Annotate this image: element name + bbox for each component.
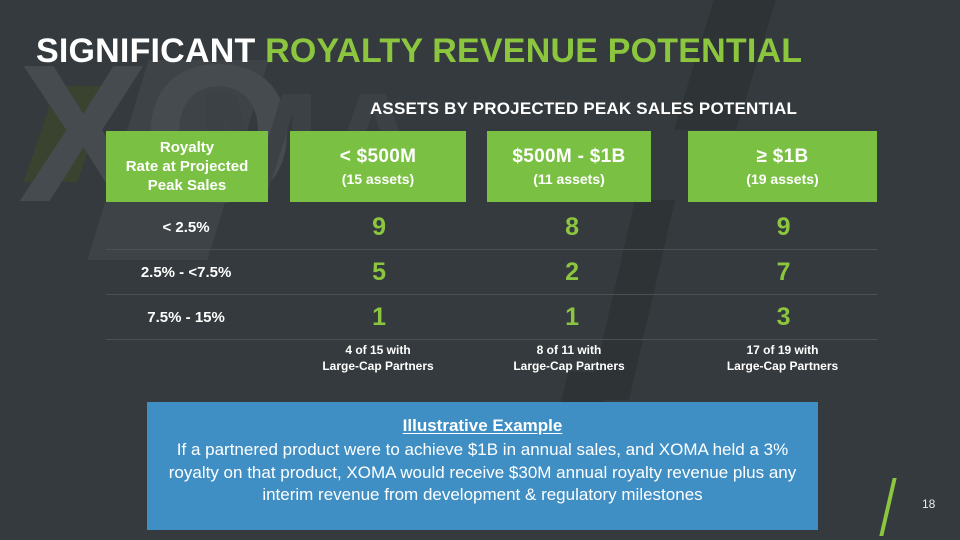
table-row: 2.5% - <7.5% 5 2 7 — [106, 250, 877, 295]
row-header-line-3: Peak Sales — [148, 176, 226, 195]
row-header-line-2: Rate at Projected — [126, 157, 249, 176]
table-row-label: < 2.5% — [106, 219, 266, 236]
column-header-subtitle: (15 assets) — [342, 171, 414, 187]
table-cell: 3 — [690, 303, 877, 332]
footnote-line-1: 4 of 15 with — [290, 342, 466, 358]
table-row: 7.5% - 15% 1 1 3 — [106, 295, 877, 340]
column-header-title: ≥ $1B — [756, 146, 808, 168]
column-header-title: < $500M — [340, 146, 417, 168]
footnote-500m-1b: 8 of 11 with Large-Cap Partners — [487, 342, 651, 374]
illustrative-example-heading: Illustrative Example — [163, 416, 802, 436]
row-header-line-1: Royalty — [160, 138, 214, 157]
page-title-main: ROYALTY REVENUE POTENTIAL — [255, 32, 802, 70]
page-title-emphasis: SIGNIFICANT — [36, 32, 255, 70]
green-corner-slash-icon — [879, 478, 896, 536]
table-row-label: 2.5% - <7.5% — [106, 264, 266, 281]
illustrative-example-body: If a partnered product were to achieve $… — [163, 439, 802, 507]
footnote-line-2: Large-Cap Partners — [290, 358, 466, 374]
column-header-subtitle: (11 assets) — [533, 171, 605, 187]
footnote-line-1: 17 of 19 with — [688, 342, 877, 358]
page-title: SIGNIFICANT ROYALTY REVENUE POTENTIAL — [36, 32, 802, 71]
slide-canvas: XO MA SIGNIFICANT ROYALTY REVENUE POTENT… — [0, 0, 960, 540]
footnote-under-500m: 4 of 15 with Large-Cap Partners — [290, 342, 466, 374]
page-number: 18 — [922, 497, 935, 511]
table-cell: 7 — [690, 258, 877, 287]
table-cell: 9 — [690, 213, 877, 242]
footnote-over-1b: 17 of 19 with Large-Cap Partners — [688, 342, 877, 374]
royalty-rate-table: < 2.5% 9 8 9 2.5% - <7.5% 5 2 7 7.5% - 1… — [106, 205, 877, 340]
table-row: < 2.5% 9 8 9 — [106, 205, 877, 250]
footnote-line-1: 8 of 11 with — [487, 342, 651, 358]
table-cell: 5 — [288, 258, 470, 287]
column-header-over-1b: ≥ $1B (19 assets) — [688, 131, 877, 202]
table-cell: 9 — [288, 213, 470, 242]
footnote-line-2: Large-Cap Partners — [487, 358, 651, 374]
green-wedge-shape — [23, 86, 110, 182]
illustrative-example-callout: Illustrative Example If a partnered prod… — [147, 402, 818, 530]
table-row-header-block: Royalty Rate at Projected Peak Sales — [106, 131, 268, 202]
column-header-subtitle: (19 assets) — [746, 171, 818, 187]
table-row-label: 7.5% - 15% — [106, 309, 266, 326]
table-cell: 1 — [288, 303, 470, 332]
footnote-line-2: Large-Cap Partners — [688, 358, 877, 374]
table-cell: 1 — [491, 303, 653, 332]
table-group-header: ASSETS BY PROJECTED PEAK SALES POTENTIAL — [290, 99, 877, 119]
column-header-under-500m: < $500M (15 assets) — [290, 131, 466, 202]
column-header-title: $500M - $1B — [512, 146, 625, 168]
column-header-500m-1b: $500M - $1B (11 assets) — [487, 131, 651, 202]
table-cell: 2 — [491, 258, 653, 287]
table-cell: 8 — [491, 213, 653, 242]
